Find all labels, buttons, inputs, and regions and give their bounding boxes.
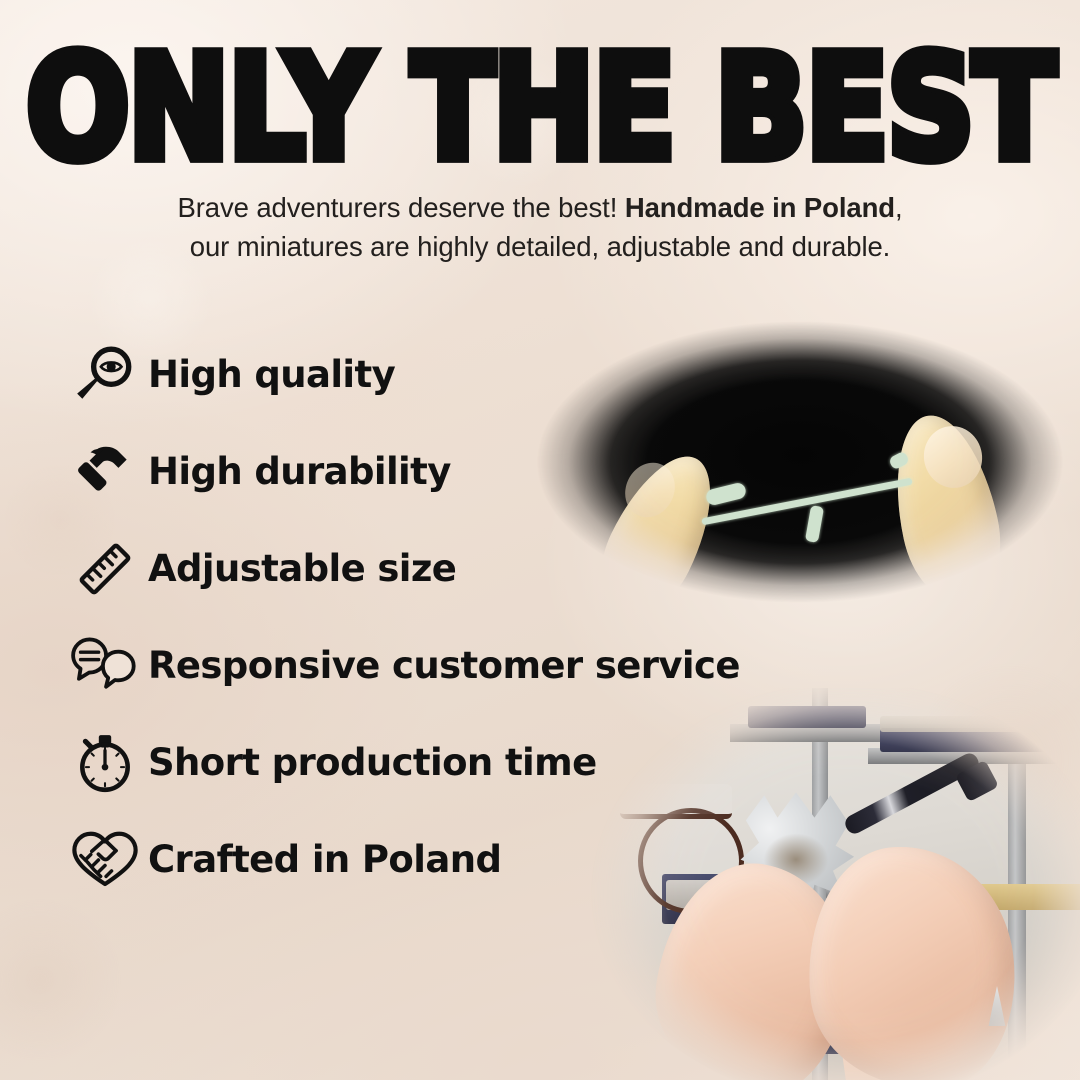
feature-label: High durability [148, 450, 451, 493]
feature-label: Short production time [148, 741, 597, 784]
subtitle-emphasis: Handmade in Poland [625, 192, 895, 223]
handshake-heart-icon [62, 825, 148, 895]
ruler-icon [62, 536, 148, 602]
feature-label: Responsive customer service [148, 644, 740, 687]
subtitle-line-2: our miniatures are highly detailed, adju… [190, 231, 890, 262]
miniature-in-fingers-photo [520, 302, 1080, 622]
feature-label: Crafted in Poland [148, 838, 501, 881]
miniature-batch-top [880, 716, 1060, 732]
paint-tray-top [748, 706, 866, 728]
stopwatch-icon [62, 730, 148, 796]
subtitle: Brave adventurers deserve the best! Hand… [90, 188, 990, 266]
speech-bubbles-icon [62, 632, 148, 700]
eyeglasses-temple [620, 784, 732, 819]
promo-graphic: ONLY THE BEST Brave adventurers deserve … [0, 0, 1080, 1080]
subtitle-lead: Brave adventurers deserve the best! [177, 192, 624, 223]
hammer-icon [62, 439, 148, 505]
feature-label: Adjustable size [148, 547, 456, 590]
feature-label: High quality [148, 353, 395, 396]
magnifier-eye-icon [62, 342, 148, 408]
workshop-painting-photo [580, 688, 1080, 1080]
page-title: ONLY THE BEST [0, 36, 1080, 180]
subtitle-comma: , [895, 192, 903, 223]
